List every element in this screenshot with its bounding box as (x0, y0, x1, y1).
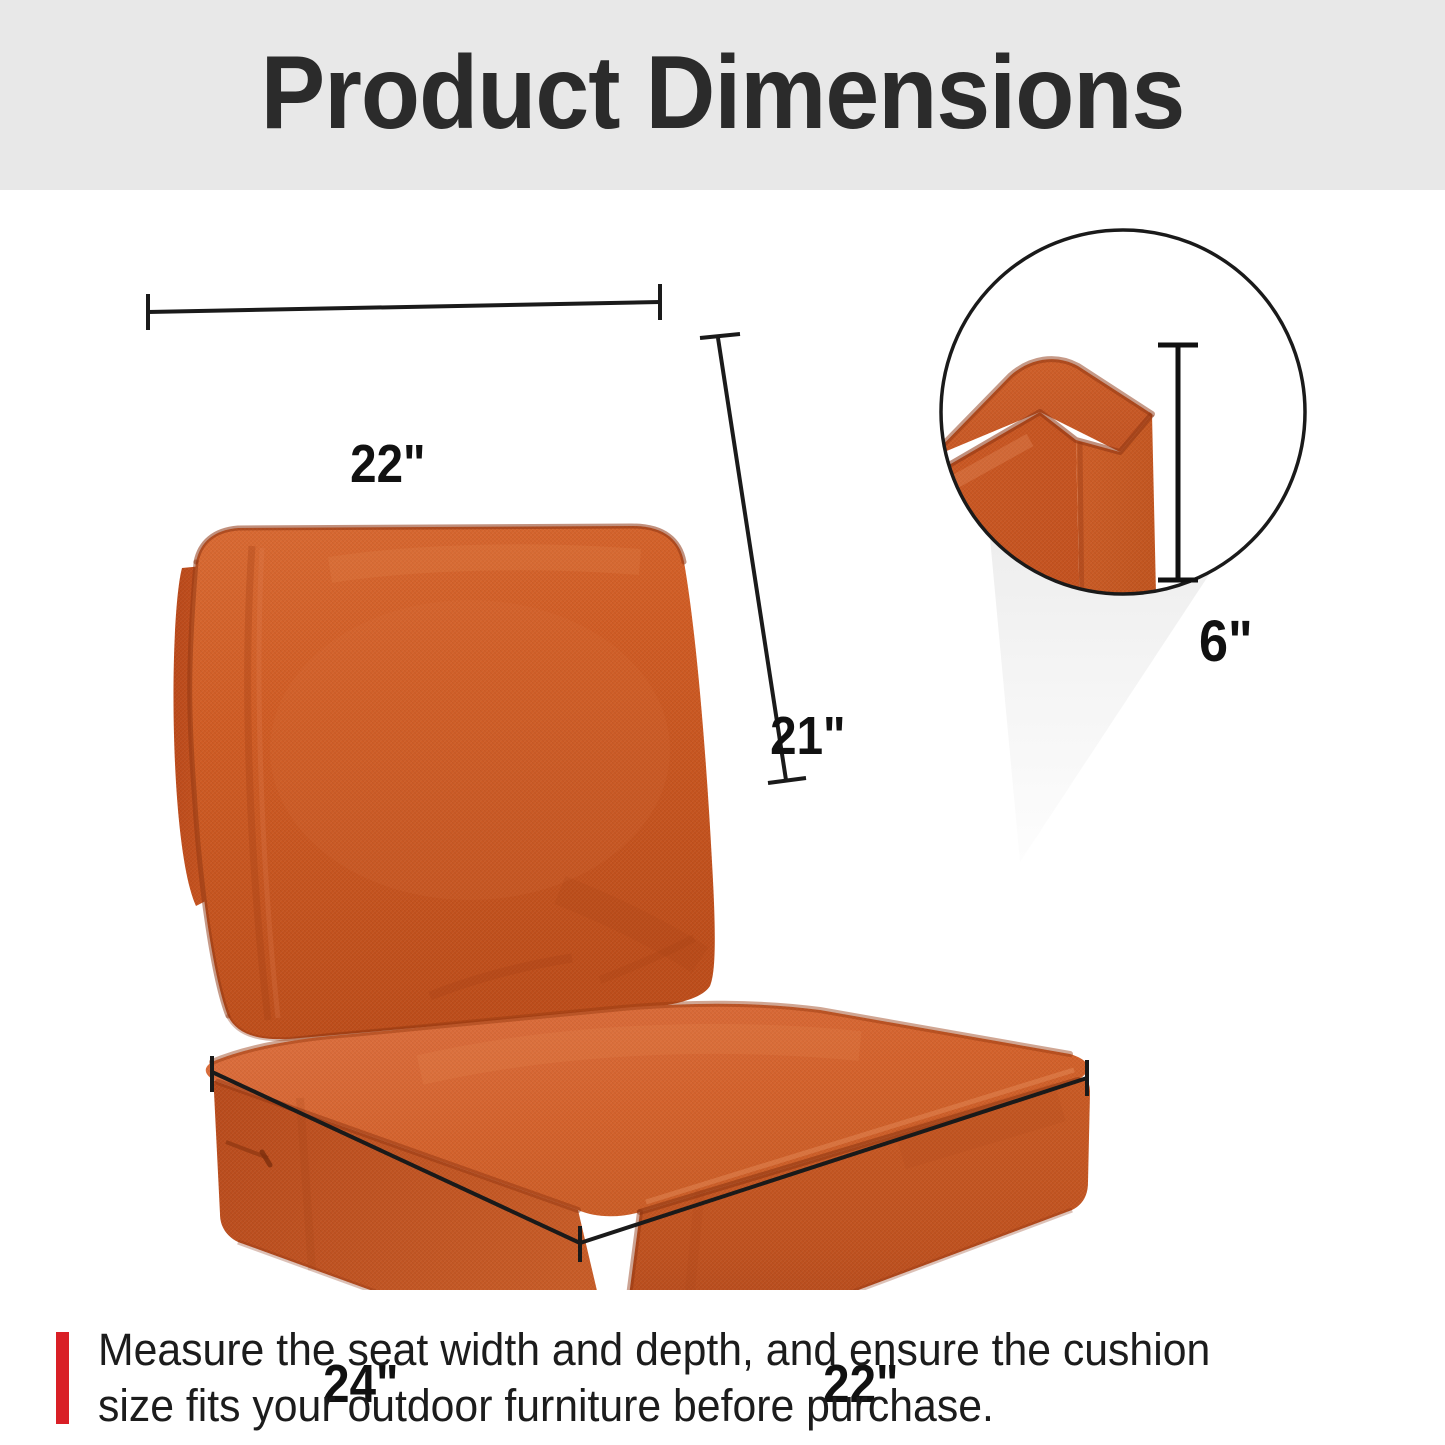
dim-line-back-width (148, 284, 660, 330)
accent-bar (56, 1332, 69, 1424)
footer-note: Measure the seat width and depth, and en… (0, 1300, 1445, 1445)
product-dimensions-infographic: Product Dimensions (0, 0, 1445, 1445)
header-band: Product Dimensions (0, 0, 1445, 190)
dimension-label-back-height: 21" (770, 705, 845, 767)
footer-caption: Measure the seat width and depth, and en… (98, 1322, 1238, 1434)
back-cushion (173, 526, 714, 1039)
page-title: Product Dimensions (51, 38, 1395, 148)
seat-cushion (206, 1004, 1090, 1290)
dimension-label-seat-thickness: 6" (1199, 608, 1253, 675)
dimension-label-back-width: 22" (350, 433, 425, 495)
illustration-stage: 22" 21" 24" 22" 6" (0, 190, 1445, 1290)
